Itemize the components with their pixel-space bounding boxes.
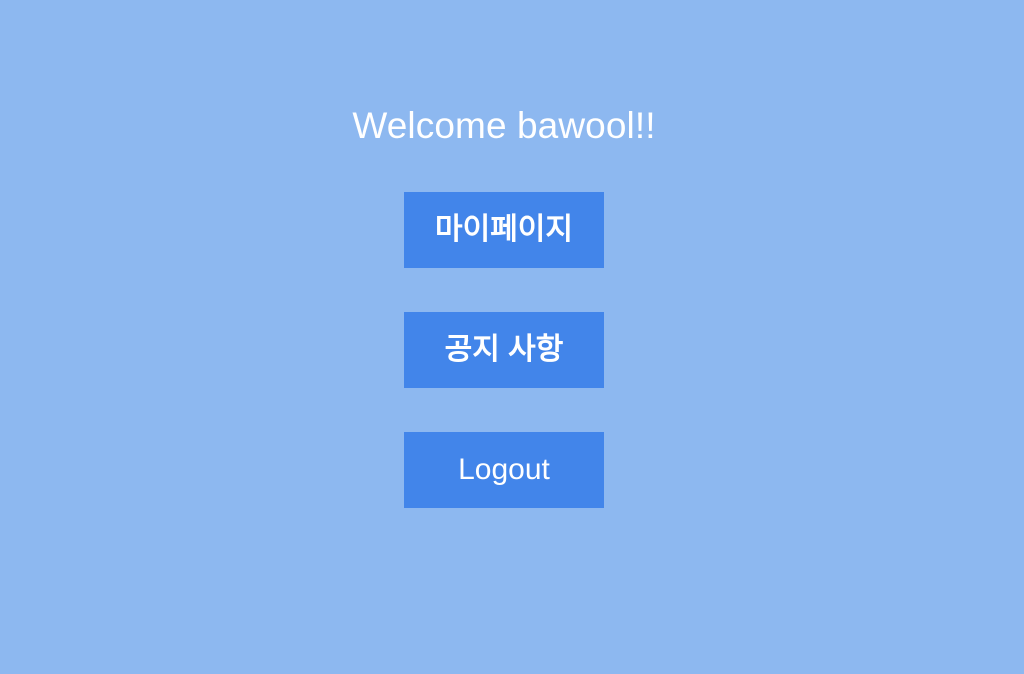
page-title: Welcome bawool!! <box>352 107 655 144</box>
content-column: Welcome bawool!! 마이페이지 공지 사항 Logout <box>0 0 1008 674</box>
logout-button[interactable]: Logout <box>404 432 604 508</box>
page-root: Welcome bawool!! 마이페이지 공지 사항 Logout <box>0 0 1024 674</box>
menu-button-group: 마이페이지 공지 사항 Logout <box>404 192 604 508</box>
mypage-button[interactable]: 마이페이지 <box>404 192 604 268</box>
notices-button[interactable]: 공지 사항 <box>404 312 604 388</box>
